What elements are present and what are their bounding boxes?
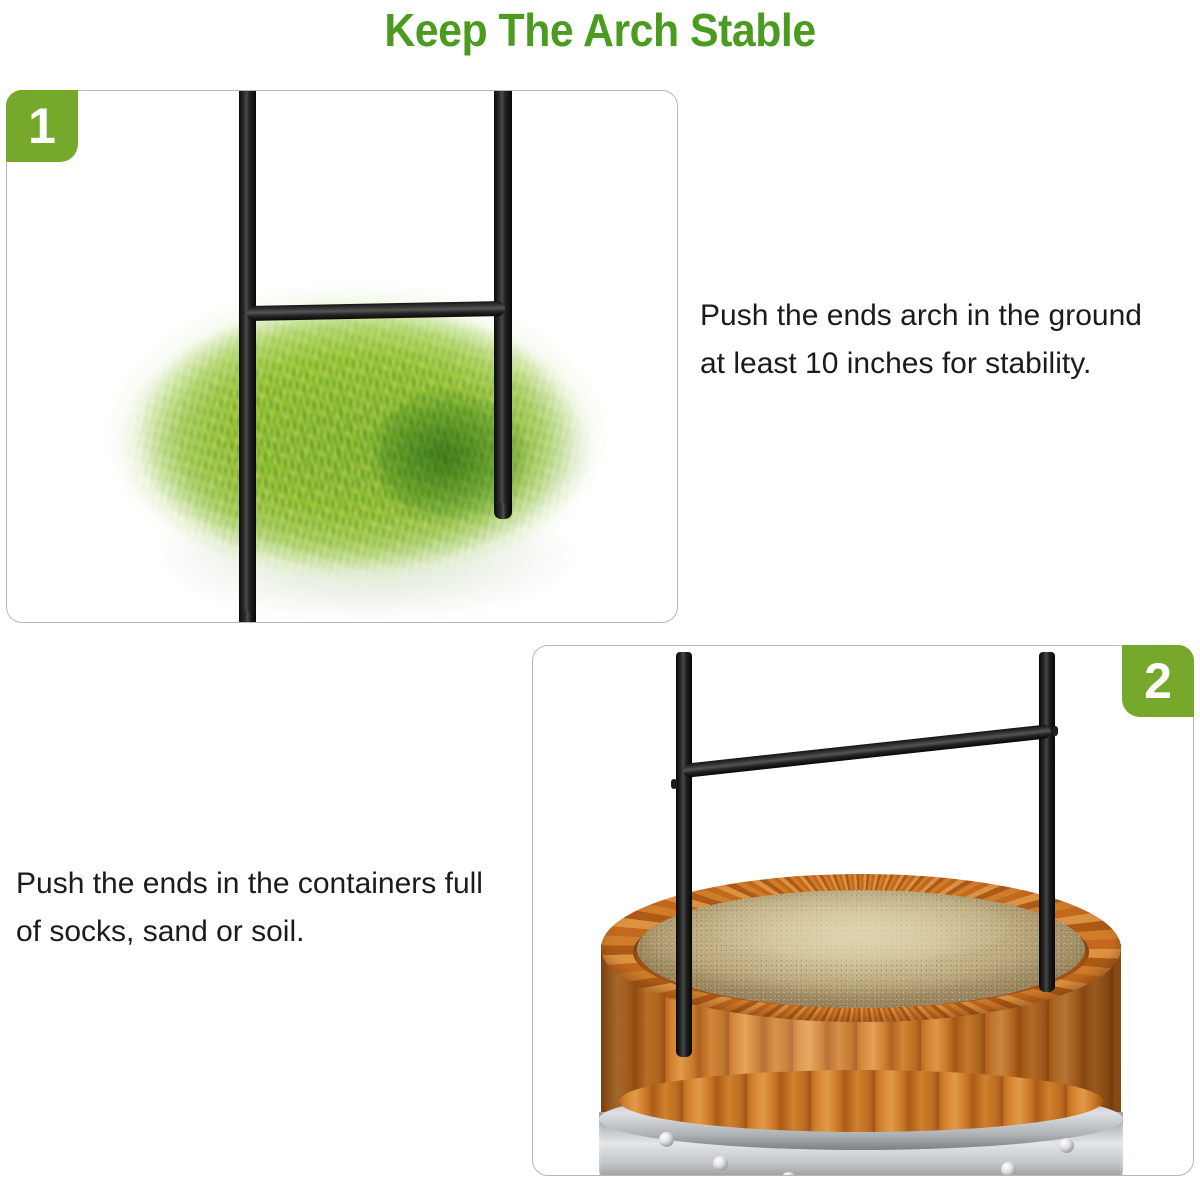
arch-post-left-tip [239, 611, 256, 623]
step-2-number-badge: 2 [1122, 645, 1194, 717]
arch-post-right-tip [494, 503, 512, 519]
arch-post-right [1039, 652, 1055, 992]
barrel-rivet [713, 1156, 728, 1171]
arch-post-left [239, 90, 256, 623]
step-1-caption: Push the ends arch in the ground at leas… [700, 292, 1190, 388]
step-2-image-card [532, 645, 1194, 1176]
step-1-number-badge: 1 [6, 90, 78, 162]
page-title: Keep The Arch Stable [42, 2, 1158, 58]
step-1-image-card [6, 90, 678, 623]
arch-crossbar [682, 724, 1051, 778]
sand-mound [711, 892, 1011, 962]
grass-texture [87, 271, 627, 601]
barrel-band-wood-overlap [619, 1070, 1103, 1132]
step-2-caption: Push the ends in the containers full of … [16, 860, 526, 956]
arch-post-left [676, 652, 692, 1057]
barrel-rivet [1001, 1162, 1016, 1176]
crossbar-bolt-left [671, 779, 677, 789]
step-2-illustration [533, 646, 1193, 1175]
barrel-rivet [1059, 1138, 1074, 1153]
barrel-rivet [659, 1132, 674, 1147]
crossbar-bolt-right [1052, 726, 1058, 736]
step-1-illustration [7, 91, 677, 622]
